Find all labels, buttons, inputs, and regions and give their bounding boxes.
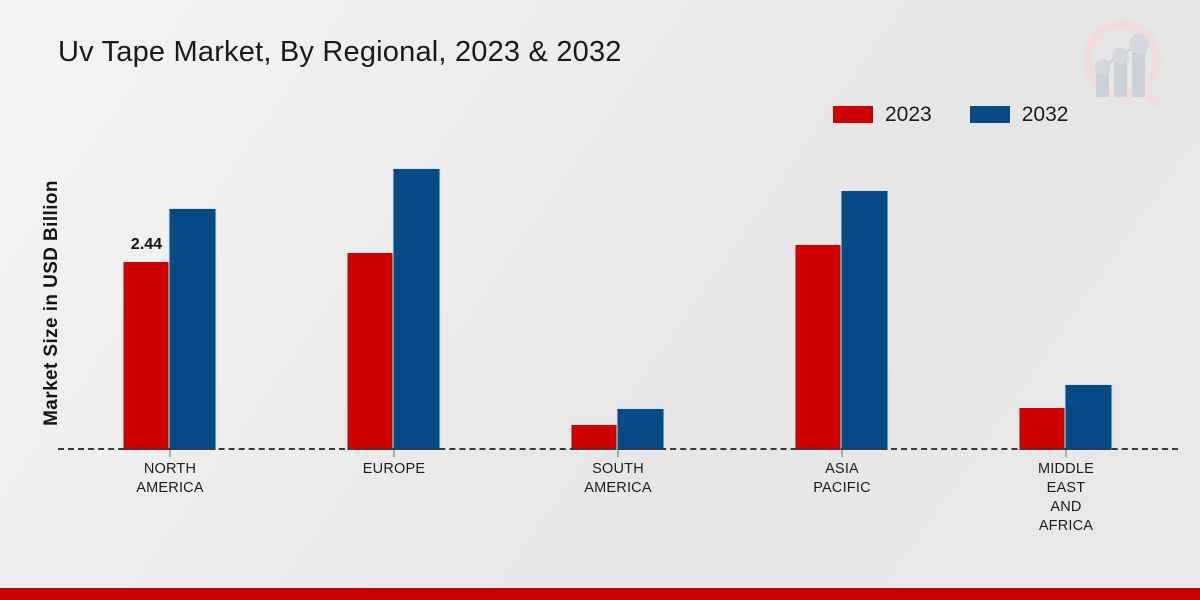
bar-groups: 2.44NORTH AMERICAEUROPESOUTH AMERICAASIA… (58, 150, 1178, 450)
legend-item-2032[interactable]: 2032 (970, 104, 1069, 125)
bar-pair (796, 150, 889, 450)
x-axis-baseline (58, 448, 1178, 450)
x-axis-category-label: NORTH AMERICA (136, 460, 203, 498)
x-axis-category-label: MIDDLE EAST AND AFRICA (1038, 460, 1094, 536)
x-axis-category-label: ASIA PACIFIC (813, 460, 871, 498)
bar-2023[interactable] (1020, 408, 1066, 450)
bar-group: ASIA PACIFIC (730, 150, 954, 450)
bar-pair (348, 150, 441, 450)
plot-area: 2.44NORTH AMERICAEUROPESOUTH AMERICAASIA… (58, 150, 1178, 450)
x-axis-category-label: SOUTH AMERICA (584, 460, 651, 498)
bar-2032[interactable] (169, 208, 217, 450)
bar-value-label: 2.44 (131, 236, 162, 254)
x-axis-tick (170, 450, 171, 457)
market-research-magnifier-logo-icon (1072, 14, 1176, 114)
legend-swatch-2023 (833, 106, 873, 123)
bar-2023[interactable]: 2.44 (124, 262, 170, 450)
legend-item-2023[interactable]: 2023 (833, 104, 932, 125)
bar-2023[interactable] (572, 425, 618, 450)
x-axis-tick (394, 450, 395, 457)
bar-group: 2.44NORTH AMERICA (58, 150, 282, 450)
bar-2023[interactable] (348, 253, 394, 450)
bar-pair (572, 150, 665, 450)
legend-swatch-2032 (970, 106, 1010, 123)
bar-group: SOUTH AMERICA (506, 150, 730, 450)
bar-2023[interactable] (796, 245, 842, 450)
footer-stripe (0, 588, 1200, 600)
legend-label-2032: 2032 (1022, 104, 1069, 125)
x-axis-tick (842, 450, 843, 457)
page-title: Uv Tape Market, By Regional, 2023 & 2032 (58, 36, 622, 69)
bar-2032[interactable] (617, 408, 665, 450)
bar-2032[interactable] (841, 190, 889, 450)
x-axis-tick (1066, 450, 1067, 457)
x-axis-category-label: EUROPE (363, 460, 425, 479)
chart-legend: 2023 2032 (833, 104, 1068, 125)
x-axis-tick (618, 450, 619, 457)
bar-2032[interactable] (393, 168, 441, 450)
bar-group: MIDDLE EAST AND AFRICA (954, 150, 1178, 450)
bar-2032[interactable] (1065, 384, 1113, 450)
chart-canvas: Uv Tape Market, By Regional, 2023 & 2032… (0, 0, 1200, 600)
bar-pair (1020, 150, 1113, 450)
legend-label-2023: 2023 (885, 104, 932, 125)
bar-pair: 2.44 (124, 150, 217, 450)
bar-group: EUROPE (282, 150, 506, 450)
